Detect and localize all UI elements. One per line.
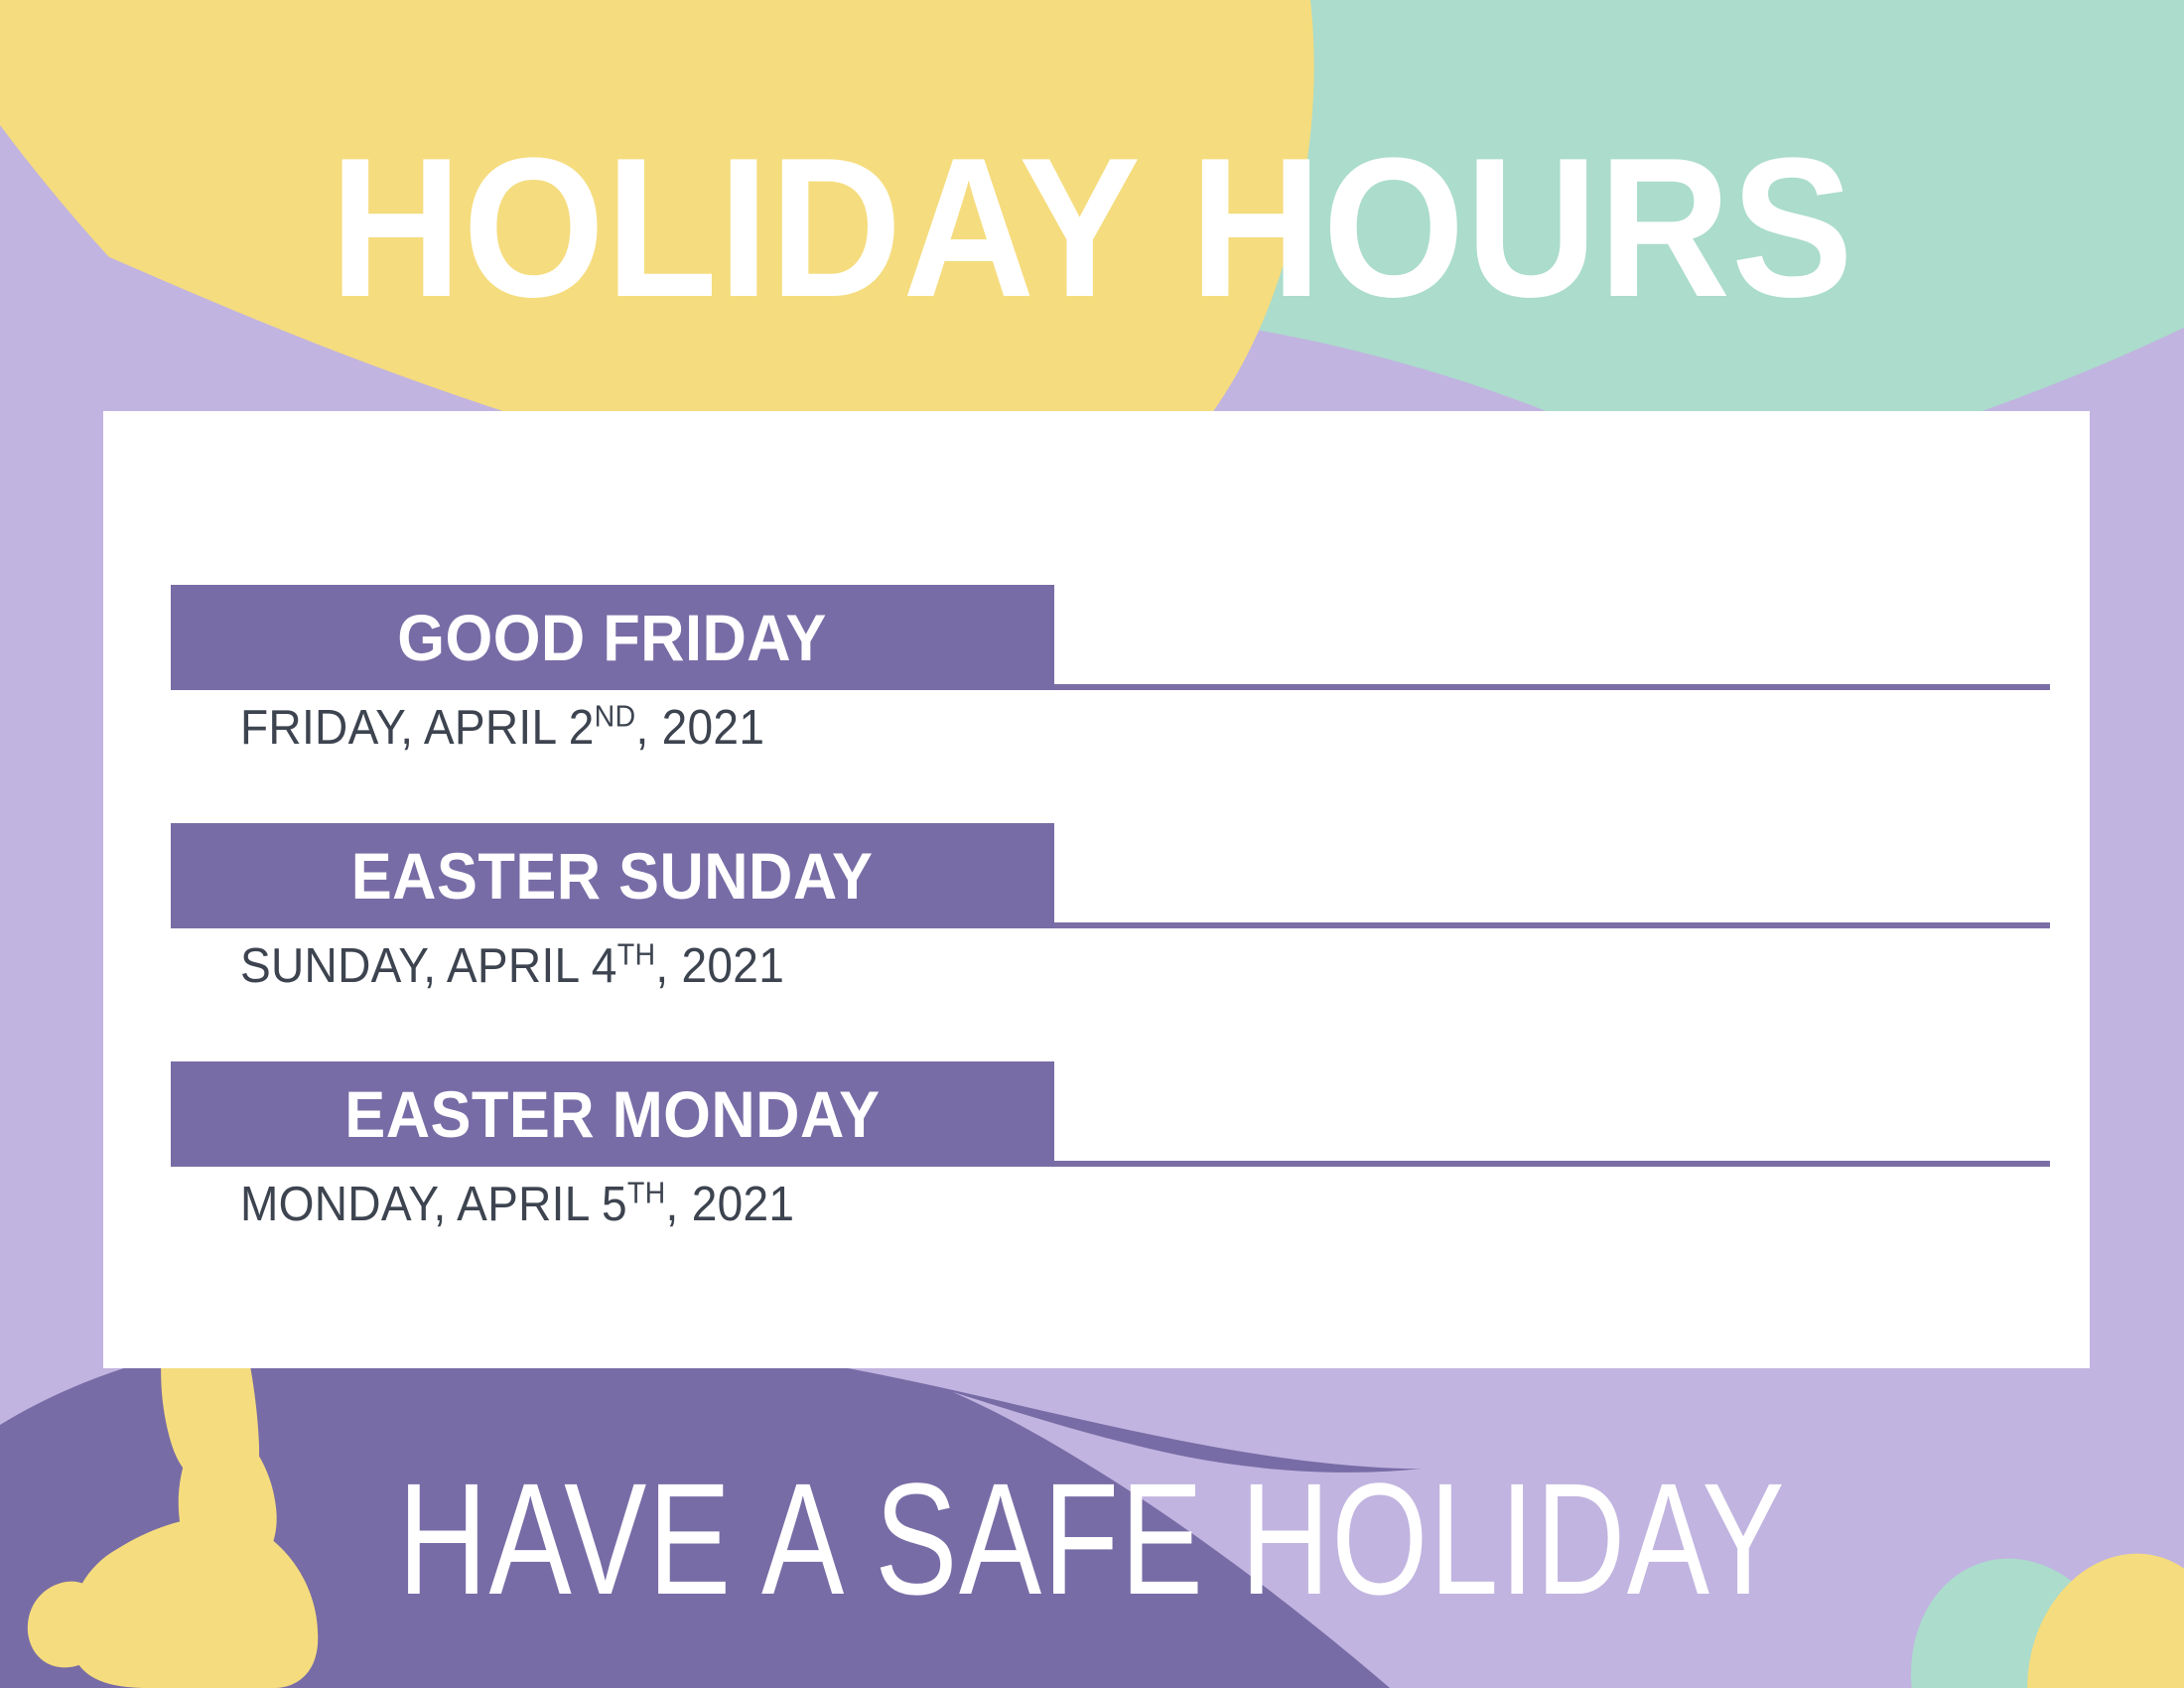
page-title: HOLIDAY HOURS [87,129,2097,328]
holiday-date-prefix: MONDAY, APRIL 5 [240,1178,627,1231]
holiday-date-prefix: SUNDAY, APRIL 4 [240,939,617,993]
holiday-name-block: EASTER SUNDAY [171,823,1054,928]
holiday-name-block: GOOD FRIDAY [171,585,1054,690]
holiday-date-ordinal: ND [595,700,636,734]
holiday-date: MONDAY, APRIL 5TH, 2021 [240,1177,1944,1232]
holiday-date: SUNDAY, APRIL 4TH, 2021 [240,938,1944,994]
holiday-label-row: EASTER SUNDAY [171,823,2052,928]
holiday-label-row: EASTER MONDAY [171,1061,2052,1167]
holiday-name: EASTER SUNDAY [351,838,874,914]
holiday-hours-poster: HOLIDAY HOURS GOOD FRIDAY FRIDAY, APRIL … [0,0,2184,1688]
holiday-name-block: EASTER MONDAY [171,1061,1054,1167]
holiday-name: EASTER MONDAY [344,1076,880,1152]
holiday-date: FRIDAY, APRIL 2ND, 2021 [240,700,1944,756]
holiday-date-prefix: FRIDAY, APRIL 2 [240,701,595,755]
holiday-name: GOOD FRIDAY [398,600,828,675]
holiday-date-ordinal: TH [627,1177,666,1210]
holiday-date-year: , 2021 [655,939,784,993]
holiday-label-row: GOOD FRIDAY [171,585,2052,690]
schedule-card: GOOD FRIDAY FRIDAY, APRIL 2ND, 2021 EAST… [103,411,2090,1368]
hours-write-in-rule [1054,922,2050,928]
holiday-date-year: , 2021 [635,701,764,755]
footer-message: HAVE A SAFE HOLIDAY [240,1460,1944,1618]
schedule-row: EASTER MONDAY MONDAY, APRIL 5TH, 2021 [171,1061,2052,1232]
holiday-date-ordinal: TH [617,938,656,972]
hours-write-in-rule [1054,1161,2050,1167]
schedule-row: EASTER SUNDAY SUNDAY, APRIL 4TH, 2021 [171,823,2052,994]
holiday-date-year: , 2021 [666,1178,795,1231]
hours-write-in-rule [1054,684,2050,690]
schedule-rows: GOOD FRIDAY FRIDAY, APRIL 2ND, 2021 EAST… [103,411,2090,1368]
schedule-row: GOOD FRIDAY FRIDAY, APRIL 2ND, 2021 [171,585,2052,756]
